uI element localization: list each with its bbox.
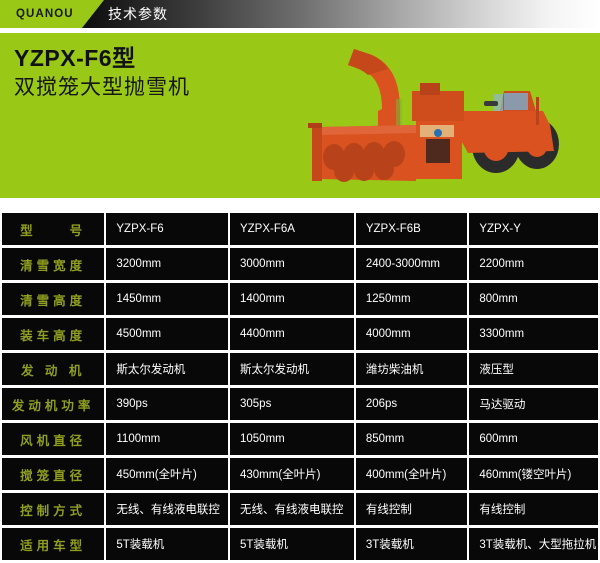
spec-value: 4500mm [106, 318, 228, 350]
spec-value: 2400-3000mm [356, 248, 468, 280]
spec-value: YZPX-F6A [230, 213, 354, 245]
spec-value: 206ps [356, 388, 468, 420]
spec-value: 1400mm [230, 283, 354, 315]
spec-value: YZPX-Y [469, 213, 598, 245]
spec-label: 风机直径 [2, 423, 104, 455]
table-row: 搅笼直径 450mm(全叶片) 430mm(全叶片) 400mm(全叶片) 46… [2, 458, 598, 490]
spec-value: 有线控制 [356, 493, 468, 525]
spec-value: 460mm(镂空叶片) [469, 458, 598, 490]
spec-value: 有线控制 [469, 493, 598, 525]
spec-value: 3200mm [106, 248, 228, 280]
spec-value: 无线、有线液电联控 [106, 493, 228, 525]
spec-value: 2200mm [469, 248, 598, 280]
auger-housing [308, 123, 416, 182]
spec-value: 600mm [469, 423, 598, 455]
spec-value: 4000mm [356, 318, 468, 350]
hero-text-block: YZPX-F6型 双搅笼大型抛雪机 [14, 45, 190, 101]
top-header-bar: QUANOU 技术参数 [0, 0, 600, 28]
blower-engine-housing [412, 83, 464, 179]
specifications-table: 型 号 YZPX-F6 YZPX-F6A YZPX-F6B YZPX-Y 清雪宽… [0, 210, 600, 563]
spec-value: 400mm(全叶片) [356, 458, 468, 490]
spec-label: 型 号 [2, 213, 104, 245]
table-row: 发 动 机 斯太尔发动机 斯太尔发动机 潍坊柴油机 液压型 [2, 353, 598, 385]
spec-label: 搅笼直径 [2, 458, 104, 490]
spec-value: 850mm [356, 423, 468, 455]
table-row: 清雪高度 1450mm 1400mm 1250mm 800mm [2, 283, 598, 315]
spec-value: 无线、有线液电联控 [230, 493, 354, 525]
hero-panel: YZPX-F6型 双搅笼大型抛雪机 [0, 33, 600, 198]
table-row: 控制方式 无线、有线液电联控 无线、有线液电联控 有线控制 有线控制 [2, 493, 598, 525]
spec-label: 清雪高度 [2, 283, 104, 315]
spec-value: 1450mm [106, 283, 228, 315]
header-section-title: 技术参数 [108, 0, 168, 28]
spec-value: 斯太尔发动机 [230, 353, 354, 385]
product-image-snow-blower [308, 39, 598, 194]
spec-value: 450mm(全叶片) [106, 458, 228, 490]
spec-value: YZPX-F6B [356, 213, 468, 245]
table-row: 风机直径 1100mm 1050mm 850mm 600mm [2, 423, 598, 455]
spec-value: 液压型 [469, 353, 598, 385]
product-model-title: YZPX-F6型 [14, 45, 190, 71]
spec-value: 斯太尔发动机 [106, 353, 228, 385]
spec-label: 发动机功率 [2, 388, 104, 420]
spec-value: 1050mm [230, 423, 354, 455]
spec-label: 装车高度 [2, 318, 104, 350]
spec-value: 马达驱动 [469, 388, 598, 420]
spec-label: 发 动 机 [2, 353, 104, 385]
spec-label: 清雪宽度 [2, 248, 104, 280]
table-row: 型 号 YZPX-F6 YZPX-F6A YZPX-F6B YZPX-Y [2, 213, 598, 245]
spec-value: 390ps [106, 388, 228, 420]
spec-table-body: 型 号 YZPX-F6 YZPX-F6A YZPX-F6B YZPX-Y 清雪宽… [2, 213, 598, 560]
spec-value: 1100mm [106, 423, 228, 455]
spec-value: 800mm [469, 283, 598, 315]
spec-value: 3000mm [230, 248, 354, 280]
table-row: 清雪宽度 3200mm 3000mm 2400-3000mm 2200mm [2, 248, 598, 280]
spec-value: 4400mm [230, 318, 354, 350]
spec-value: 潍坊柴油机 [356, 353, 468, 385]
spec-value: 305ps [230, 388, 354, 420]
spec-value: YZPX-F6 [106, 213, 228, 245]
table-row: 发动机功率 390ps 305ps 206ps 马达驱动 [2, 388, 598, 420]
loader-body [458, 91, 554, 153]
brand-logo-text: QUANOU [16, 0, 74, 28]
spec-value: 1250mm [356, 283, 468, 315]
table-row: 装车高度 4500mm 4400mm 4000mm 3300mm [2, 318, 598, 350]
spec-label: 控制方式 [2, 493, 104, 525]
product-name-subtitle: 双搅笼大型抛雪机 [14, 75, 190, 100]
spec-value: 3300mm [469, 318, 598, 350]
spec-value: 430mm(全叶片) [230, 458, 354, 490]
